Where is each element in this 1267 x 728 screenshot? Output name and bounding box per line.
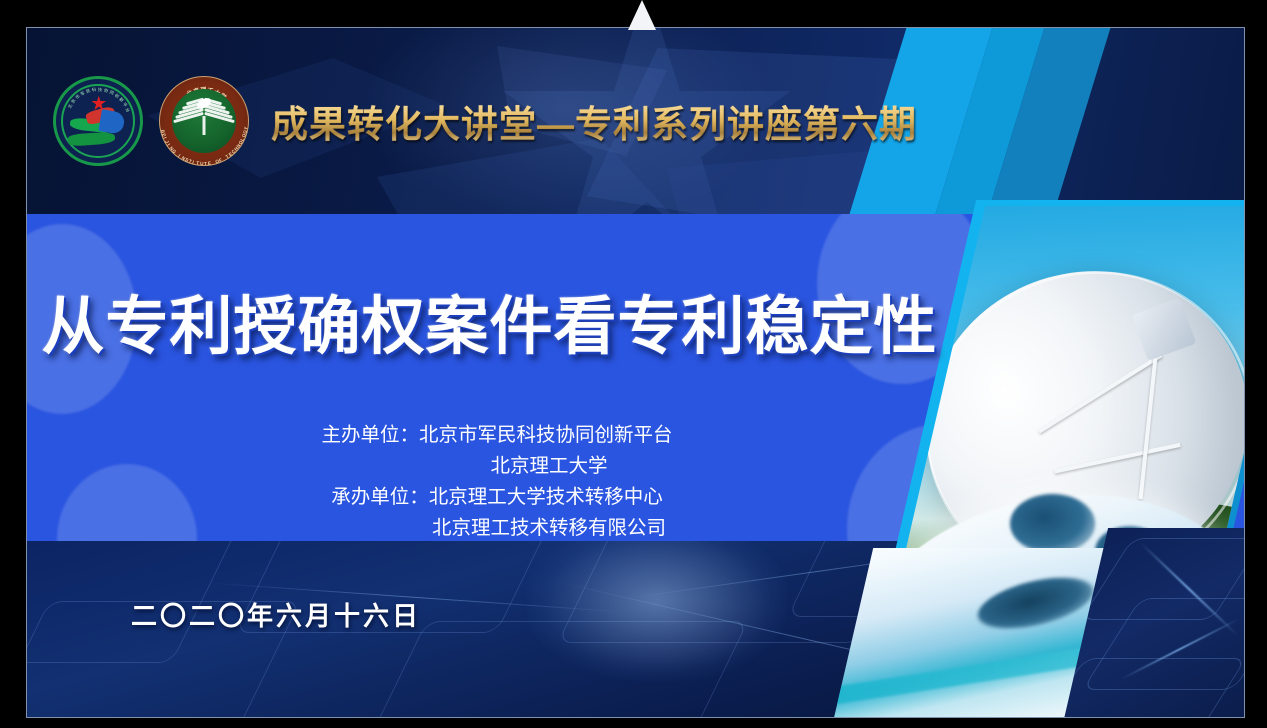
star-tip-shape <box>628 0 656 30</box>
organizer-line: 北京理工技术转移有限公司 <box>27 513 967 544</box>
page-title: 从专利授确权案件看专利稳定性 <box>27 276 952 367</box>
logo-inner-disc <box>172 89 236 153</box>
tech-glow <box>527 541 787 681</box>
event-date: 二〇二〇年六月十六日 <box>131 596 421 633</box>
beijing-military-civilian-platform-logo: 北京市军民科技协同创新平台 <box>53 76 143 166</box>
train-window <box>1010 494 1095 553</box>
organizer-line: 主办单位：北京市军民科技协同创新平台 <box>27 420 967 451</box>
organizer-line: 北京理工大学 <box>27 451 967 482</box>
tech-plate-line <box>1062 658 1245 718</box>
presentation-slide: 北京市军民科技协同创新平台 北京理工大学 BEIJING INSTITUTE O… <box>26 27 1245 718</box>
slide-header: 北京市军民科技协同创新平台 北京理工大学 BEIJING INSTITUTE O… <box>27 28 1245 214</box>
organizer-line: 承办单位：北京理工大学技术转移中心 <box>27 482 967 513</box>
banner-title: 成果转化大讲堂—专利系列讲座第六期 <box>271 94 917 148</box>
organizer-block: 主办单位：北京市军民科技协同创新平台 北京理工大学 承办单位：北京理工大学技术转… <box>27 420 967 544</box>
beijing-institute-of-technology-logo: 北京理工大学 BEIJING INSTITUTE OF TECHNOLOGY <box>159 76 249 166</box>
screenshot-root: 北京市军民科技协同创新平台 北京理工大学 BEIJING INSTITUTE O… <box>0 0 1267 728</box>
tree-trunk <box>203 116 206 135</box>
